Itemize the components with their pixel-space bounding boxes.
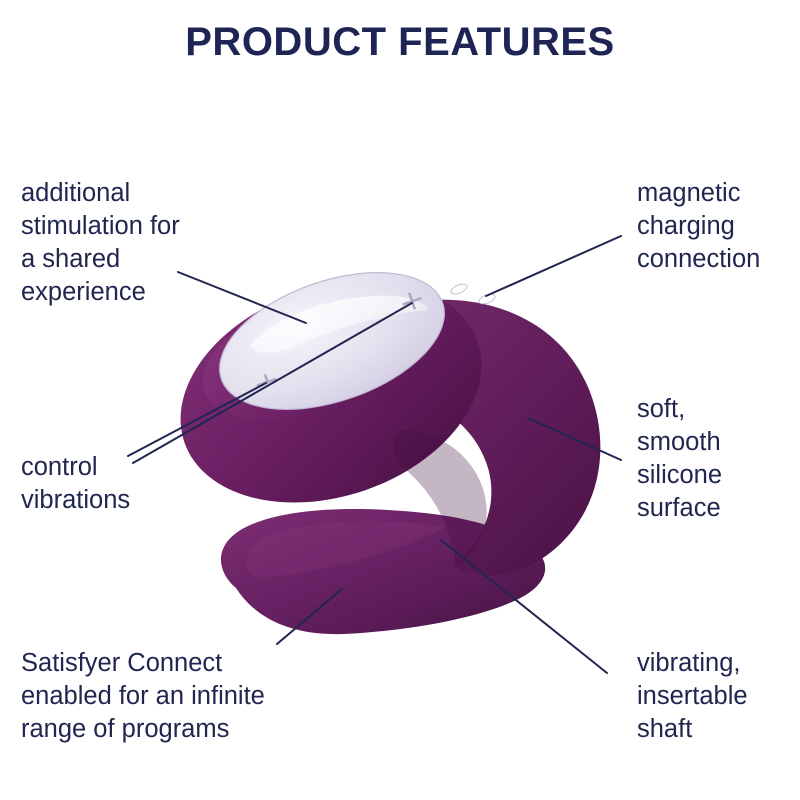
callout-magnetic-charging: magnetic charging connection xyxy=(637,177,800,276)
product-features-diagram: PRODUCT FEATURES xyxy=(0,0,800,800)
callout-soft-silicone: soft, smooth silicone surface xyxy=(637,393,800,525)
callout-control-vibrations: control vibrations xyxy=(21,451,231,517)
callout-satisfyer-connect: Satisfyer Connect enabled for an infinit… xyxy=(21,647,351,746)
callout-additional-stimulation: additional stimulation for a shared expe… xyxy=(21,177,251,309)
callout-vibrating-shaft: vibrating, insertable shaft xyxy=(637,647,800,746)
